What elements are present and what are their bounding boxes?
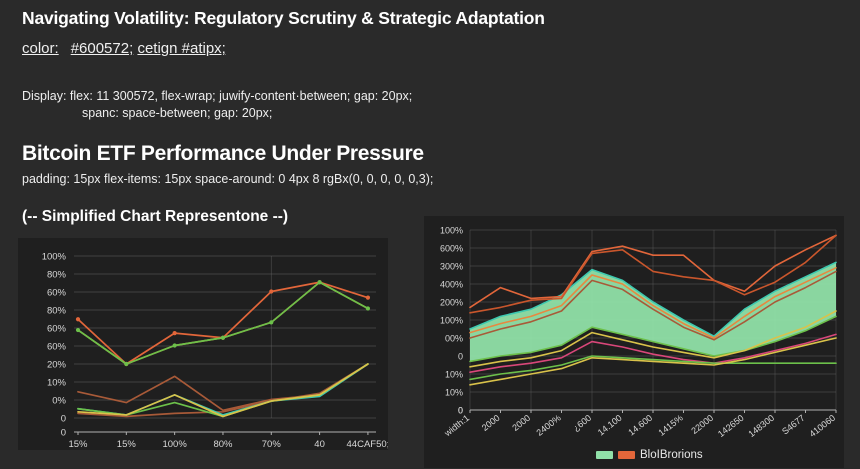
right-chart-ytick: 600% [440,244,463,254]
left-chart-point [366,296,370,300]
right-chart-xtick: ¿600 [571,413,593,434]
left-chart-point [366,306,370,310]
left-chart-ytick-zero: 0 [61,428,66,439]
right-chart-ytick: 0 [458,352,463,362]
left-chart-ytick: 0% [52,396,66,407]
right-chart-xtick: 1415% [656,413,684,438]
css-color-line: color:#600572; cetign #atipx; [22,40,226,57]
css-display-block: Display: flex: 11 300572, flex-wrap; juw… [22,88,412,122]
legend-label: BloIBrorions [640,449,703,461]
section-title: Bitcoin ETF Performance Under Pressure [22,142,424,166]
left-chart-point [173,343,177,347]
left-chart-xtick: 80% [213,439,233,450]
left-chart-ytick: 100% [42,252,67,263]
left-chart-ytick: 80% [47,270,67,281]
right-chart-xtick: 14.100 [596,413,624,438]
css-display-line-2: spanc: space-between; gap: 20px; [82,106,272,120]
right-chart-ytick: 100% [440,226,463,236]
left-chart-xtick: 40 [314,439,325,450]
css-color-label: color: [22,40,59,57]
left-chart-xtick: 15% [117,439,137,450]
right-chart-xtick: S4677 [780,413,807,437]
css-color-value: #600572; [71,40,134,57]
right-chart-ytick: 00% [445,334,463,344]
left-chart-xtick: 70% [262,439,282,450]
left-chart-series-series-brown-flat [78,364,368,416]
left-chart-point [76,317,80,321]
page-title: Navigating Volatility: Regulatory Scruti… [22,8,545,29]
right-chart-ytick: 400% [440,280,463,290]
left-chart-point [173,331,177,335]
right-chart-xtick: 2400% [534,413,562,438]
left-chart-ytick: 60% [47,324,67,335]
legend-swatch-green [596,451,613,459]
left-chart-ytick: 60% [47,288,67,299]
right-chart-ytick: 10% [445,388,463,398]
left-chart-series-series-brown-lower [78,364,368,410]
left-chart-ytick: 0 [61,414,66,425]
right-chart-panel: 100%600%300%400%200%100%00%010%10%00widt… [424,216,844,468]
left-chart-point [221,336,225,340]
css-padding-line: padding: 15px flex-items: 15px space-aro… [22,172,433,186]
left-chart-ytick: 10% [47,378,67,389]
left-chart-ytick: 80% [47,306,67,317]
right-chart-ytick: 10% [445,370,463,380]
right-chart-xtick: 14.600 [626,413,654,438]
css-display-line-1: Display: flex: 11 300572, flex-wrap; juw… [22,89,412,103]
right-chart-legend: BloIBrorions [596,449,703,461]
left-chart-point [124,362,128,366]
right-chart-xtick: 2000 [510,413,532,433]
left-chart-point [269,320,273,324]
left-chart-panel: 100%80%60%80%60%60%20%10%0%0015%15%100%8… [18,238,388,450]
right-chart-xtick: 22000 [689,413,715,436]
right-chart-xtick: 148300 [746,413,776,439]
slide-root: Navigating Volatility: Regulatory Scruti… [0,0,860,469]
left-chart-svg: 100%80%60%80%60%60%20%10%0%0015%15%100%8… [18,238,388,450]
legend-swatch-orange [618,451,635,459]
left-chart-xtick: 100% [162,439,187,450]
left-chart-point [76,328,80,332]
right-chart-svg: 100%600%300%400%200%100%00%010%10%00widt… [424,216,844,468]
left-chart-series-series-green-upper [78,282,368,364]
left-chart-point [318,280,322,284]
right-chart-ytick: 300% [440,262,463,272]
right-chart-xtick: 2000 [480,413,502,433]
right-chart-ytick: 200% [440,298,463,308]
right-chart-xtick: 410060 [807,413,837,439]
left-chart-series-series-orange-upper [78,282,368,364]
left-chart-xtick: 15% [68,439,88,450]
right-chart-xtick: 142650 [716,413,746,439]
left-chart-point [269,289,273,293]
simplified-chart-note: (-- Simplified Chart Representone --) [22,208,288,226]
right-chart-ytick: 100% [440,316,463,326]
left-chart-xtick: 44CAF50; [347,439,388,450]
left-chart-series-series-amber-upper [78,282,368,364]
left-chart-ytick: 20% [47,360,67,371]
css-color-value-2: cetign #atipx; [137,40,225,57]
left-chart-ytick: 60% [47,342,67,353]
right-chart-xtick: width:1 [442,413,471,439]
